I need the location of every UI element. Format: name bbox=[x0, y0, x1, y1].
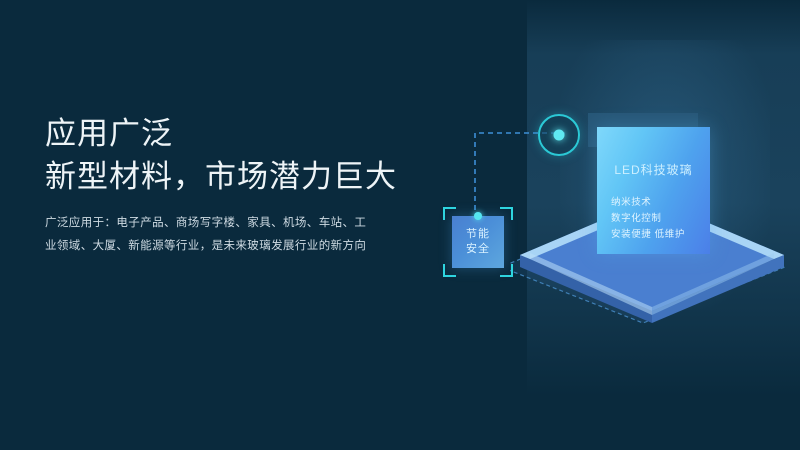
panel-feature-2: 数字化控制 bbox=[611, 211, 685, 227]
panel-title: LED科技玻璃 bbox=[597, 161, 710, 178]
led-glass-panel[interactable]: LED科技玻璃 纳米技术 数字化控制 安装便捷 低维护 bbox=[597, 127, 710, 254]
title-line-2: 新型材料，市场潜力巨大 bbox=[45, 155, 465, 198]
panel-feature-3: 安装便捷 低维护 bbox=[611, 227, 685, 243]
badge-label-line1: 节能 bbox=[466, 227, 490, 242]
text-block: 应用广泛 新型材料，市场潜力巨大 广泛应用于：电子产品、商场写字楼、家具、机场、… bbox=[45, 112, 465, 258]
panel-feature-1: 纳米技术 bbox=[611, 195, 685, 211]
title-line-1: 应用广泛 bbox=[45, 112, 465, 155]
panel-feature-list: 纳米技术 数字化控制 安装便捷 低维护 bbox=[611, 195, 685, 243]
page-title: 应用广泛 新型材料，市场潜力巨大 bbox=[45, 112, 465, 198]
badge-label-line2: 安全 bbox=[466, 242, 490, 257]
circle-node-core bbox=[554, 130, 565, 141]
slide-canvas: LED科技玻璃 纳米技术 数字化控制 安装便捷 低维护 节能 安全 应用广泛 新… bbox=[0, 0, 800, 450]
badge-dot-icon bbox=[474, 212, 482, 220]
body-paragraph: 广泛应用于：电子产品、商场写字楼、家具、机场、车站、工业领域、大厦、新能源等行业… bbox=[45, 212, 375, 258]
circle-node-icon[interactable] bbox=[538, 114, 580, 156]
